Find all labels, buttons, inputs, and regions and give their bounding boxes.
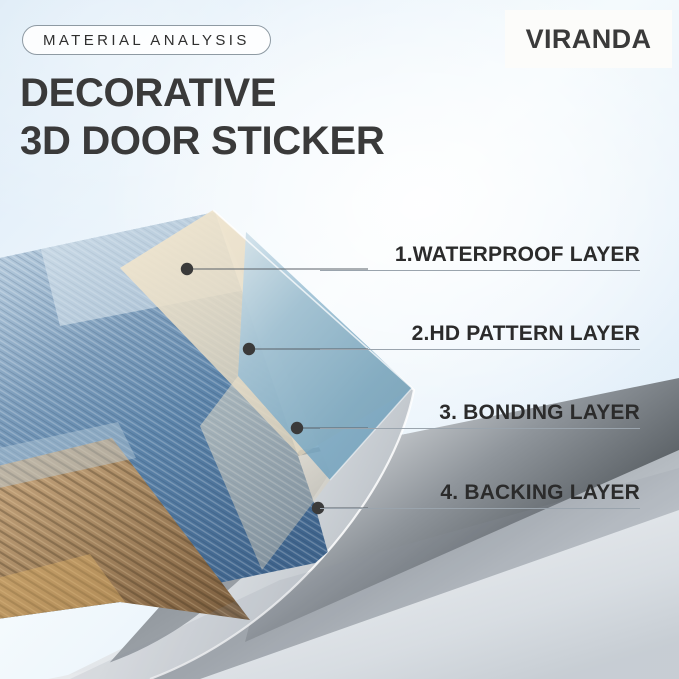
callout-waterproof-layer: 1.WATERPROOF LAYER (320, 243, 640, 271)
callout-hd-pattern-layer: 2.HD PATTERN LAYER (320, 322, 640, 350)
callout-backing-layer: 4. BACKING LAYER (320, 481, 640, 509)
callout-rule-3 (320, 428, 640, 429)
page-title-line-1: DECORATIVE (20, 73, 276, 113)
callout-label-4: 4. BACKING LAYER (440, 481, 640, 504)
callout-label-3: 3. BONDING LAYER (439, 401, 640, 424)
brand-logo: VIRANDA (505, 10, 672, 68)
callout-rule-1 (320, 270, 640, 271)
callout-bonding-layer: 3. BONDING LAYER (320, 401, 640, 429)
callout-rule-4 (320, 508, 640, 509)
eyebrow-label: MATERIAL ANALYSIS (43, 32, 250, 49)
callout-rule-2 (320, 349, 640, 350)
brand-name: VIRANDA (526, 24, 652, 55)
eyebrow-badge: MATERIAL ANALYSIS (22, 25, 271, 55)
callout-label-2: 2.HD PATTERN LAYER (412, 322, 640, 345)
material-analysis-infographic: MATERIAL ANALYSIS DECORATIVE 3D DOOR STI… (0, 0, 679, 679)
callout-label-1: 1.WATERPROOF LAYER (395, 243, 640, 266)
